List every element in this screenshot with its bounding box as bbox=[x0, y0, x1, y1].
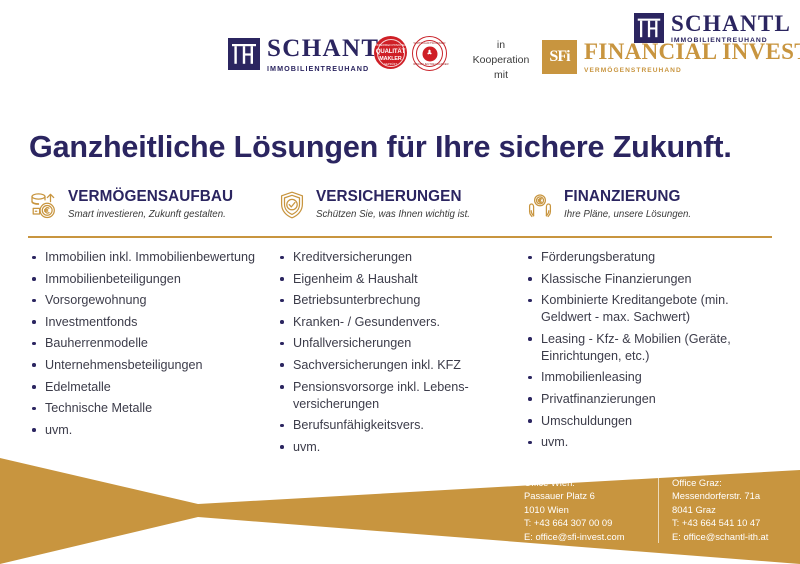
sfi-monogram-icon: SFi bbox=[542, 40, 577, 74]
list-item: Kranken- / Gesundenvers. bbox=[276, 314, 508, 331]
column-title: FINANZIERUNG bbox=[564, 188, 691, 206]
ith-monogram-icon bbox=[634, 13, 664, 43]
column-subtitle: Ihre Pläne, unsere Lösungen. bbox=[564, 209, 691, 221]
list-item: Immobilien inkl. Immobilienbewertung bbox=[28, 249, 260, 266]
office-city: 1010 Wien bbox=[524, 503, 658, 516]
cooperation-note: in Kooperation mit bbox=[468, 38, 534, 83]
office-phone[interactable]: T: +43 664 541 10 47 bbox=[672, 516, 800, 529]
list-item: Förderungsberatung bbox=[524, 249, 756, 266]
list-column-versicherungen: KreditversicherungenEigenheim & Haushalt… bbox=[276, 249, 524, 460]
coins-euro-arrow-icon bbox=[28, 189, 60, 221]
list-item: Investmentfonds bbox=[28, 314, 260, 331]
service-column-finanzierung: FINANZIERUNG Ihre Pläne, unsere Lösungen… bbox=[524, 188, 772, 228]
list-item: Unfallversicherungen bbox=[276, 335, 508, 352]
shield-check-icon bbox=[276, 189, 308, 221]
office-street: Passauer Platz 6 bbox=[524, 489, 658, 502]
service-column-headers: VERMÖGENSAUFBAU Smart investieren, Zukun… bbox=[28, 188, 772, 228]
list-item: Leasing - Kfz- & Mobilien (Geräte, Einri… bbox=[524, 331, 756, 365]
list-item: Immobilienbeteiligungen bbox=[28, 271, 260, 288]
column-title: VERMÖGENSAUFBAU bbox=[68, 188, 233, 206]
logo-name: SCHANTL bbox=[671, 12, 791, 35]
bullet-list: FörderungsberatungKlassische Finanzierun… bbox=[524, 249, 756, 451]
list-item: Technische Metalle bbox=[28, 400, 260, 417]
list-item: Privatfinanzierungen bbox=[524, 391, 756, 408]
brochure-page: SCHANTL IMMOBILIENTREUHAND ÖSTERREICHISC… bbox=[0, 0, 800, 564]
schantl-ith-logo-right: SCHANTL IMMOBILIENTREUHAND bbox=[634, 12, 791, 45]
sfi-logo-subtitle: VERMÖGENSTREUHAND bbox=[584, 67, 800, 74]
office-graz-block: Office Graz: Messendorferstr. 71a 8041 G… bbox=[658, 476, 800, 543]
sfi-financial-invest-logo: SFi FINANCIAL INVEST VERMÖGENSTREUHAND bbox=[542, 40, 800, 74]
page-title: Ganzheitliche Lösungen für Ihre sichere … bbox=[29, 130, 732, 165]
list-item: Unternehmensbeteiligungen bbox=[28, 357, 260, 374]
seal-line-1: ÖSTERREICHISCHER bbox=[374, 43, 407, 47]
eagle-crest-icon bbox=[422, 46, 437, 61]
schantl-ith-logo-left: SCHANTL IMMOBILIENTREUHAND bbox=[228, 36, 398, 72]
list-item: Sachversicherungen inkl. KFZ bbox=[276, 357, 508, 374]
bullet-list: Immobilien inkl. ImmobilienbewertungImmo… bbox=[28, 249, 260, 439]
list-item: Kombinierte Kreditangebote (min. Geldwer… bbox=[524, 292, 756, 326]
list-item: Umschuldungen bbox=[524, 413, 756, 430]
logo-bar: SCHANTL IMMOBILIENTREUHAND ÖSTERREICHISC… bbox=[0, 0, 800, 100]
office-wien-block: Office Wien: Passauer Platz 6 1010 Wien … bbox=[524, 476, 658, 543]
list-item: Betriebsunterbrechung bbox=[276, 292, 508, 309]
list-item: Klassische Finanzierungen bbox=[524, 271, 756, 288]
office-street: Messendorferstr. 71a bbox=[672, 489, 800, 502]
seal-bottom-text: IMMOBILIENTREUHÄNDER bbox=[413, 63, 446, 66]
office-city: 8041 Graz bbox=[672, 503, 800, 516]
list-column-finanzierung: FörderungsberatungKlassische Finanzierun… bbox=[524, 249, 772, 460]
seal-line-2: QUALITÄT bbox=[374, 49, 407, 55]
quality-broker-seal-icon: ÖSTERREICHISCHER QUALITÄT MAKLER GEPRÜFT bbox=[374, 36, 407, 69]
office-name: Office Graz: bbox=[672, 476, 800, 489]
seal-line-4: GEPRÜFT bbox=[374, 62, 407, 66]
list-item: Kreditversicherungen bbox=[276, 249, 508, 266]
logo-subtitle: IMMOBILIENTREUHAND bbox=[671, 38, 791, 45]
column-subtitle: Schützen Sie, was Ihnen wichtig ist. bbox=[316, 209, 470, 221]
list-item: Pensionsvorsorge inkl. Lebens-versicheru… bbox=[276, 379, 508, 413]
list-item: uvm. bbox=[28, 422, 260, 439]
ith-monogram-icon bbox=[228, 38, 260, 70]
office-email[interactable]: E: office@schantl-ith.at bbox=[672, 530, 800, 543]
bullet-list: KreditversicherungenEigenheim & Haushalt… bbox=[276, 249, 508, 456]
sfi-mark-text: SFi bbox=[549, 48, 569, 66]
service-column-versicherungen: VERSICHERUNGEN Schützen Sie, was Ihnen w… bbox=[276, 188, 524, 228]
list-column-vermoegensaufbau: Immobilien inkl. ImmobilienbewertungImmo… bbox=[28, 249, 276, 460]
chamber-of-commerce-seal-icon: WIRTSCHAFTSKAMMER IMMOBILIENTREUHÄNDER bbox=[412, 36, 447, 71]
seal-top-text: WIRTSCHAFTSKAMMER bbox=[413, 42, 446, 45]
service-lists: Immobilien inkl. ImmobilienbewertungImmo… bbox=[28, 249, 772, 460]
list-item: Edelmetalle bbox=[28, 379, 260, 396]
column-subtitle: Smart investieren, Zukunft gestalten. bbox=[68, 209, 233, 221]
list-item: Vorsorgewohnung bbox=[28, 292, 260, 309]
list-item: Eigenheim & Haushalt bbox=[276, 271, 508, 288]
gold-divider-rule bbox=[28, 236, 772, 238]
office-name: Office Wien: bbox=[524, 476, 658, 489]
office-contacts: Office Wien: Passauer Platz 6 1010 Wien … bbox=[524, 476, 800, 543]
hands-holding-coin-icon bbox=[524, 189, 556, 221]
certification-seals: ÖSTERREICHISCHER QUALITÄT MAKLER GEPRÜFT… bbox=[374, 36, 447, 71]
column-title: VERSICHERUNGEN bbox=[316, 188, 470, 206]
list-item: Bauherrenmodelle bbox=[28, 335, 260, 352]
list-item: Berufsunfähigkeitsvers. bbox=[276, 417, 508, 434]
office-email[interactable]: E: office@sfi-invest.com bbox=[524, 530, 658, 543]
office-phone[interactable]: T: +43 664 307 00 09 bbox=[524, 516, 658, 529]
list-item: Immobilienleasing bbox=[524, 369, 756, 386]
service-column-vermoegensaufbau: VERMÖGENSAUFBAU Smart investieren, Zukun… bbox=[28, 188, 276, 228]
